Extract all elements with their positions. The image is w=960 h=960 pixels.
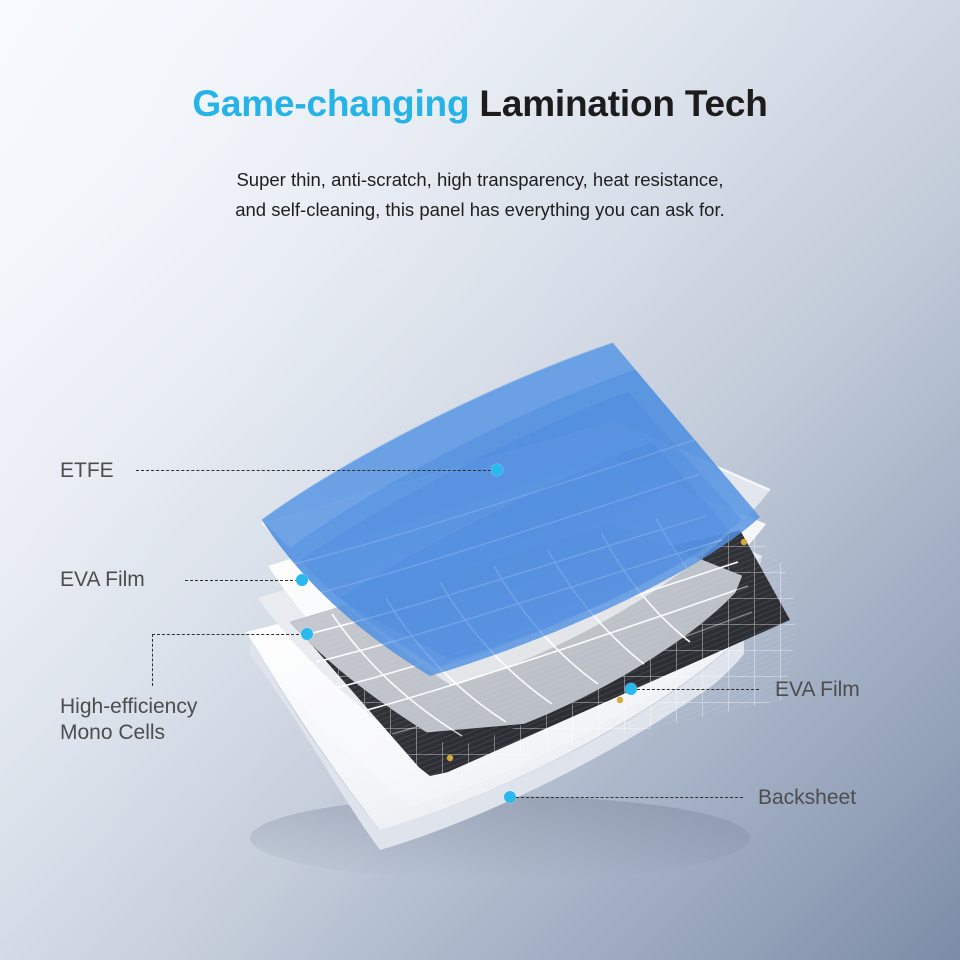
callout-label-mono-cells-line2: Mono Cells	[60, 721, 165, 744]
subtitle-line-2: and self-cleaning, this panel has everyt…	[235, 199, 725, 220]
callout-dot-mono-cells[interactable]	[301, 628, 313, 640]
callout-label-backsheet: Backsheet	[758, 785, 856, 811]
callout-label-eva-bottom: EVA Film	[775, 677, 860, 703]
callout-dot-eva-top[interactable]	[296, 574, 308, 586]
title-rest-text: Lamination Tech	[469, 83, 767, 124]
header: Game-changing Lamination Tech Super thin…	[0, 0, 960, 225]
page-title: Game-changing Lamination Tech	[0, 0, 960, 125]
callout-leader-mono-cells-vertical	[152, 634, 153, 686]
subtitle-line-1: Super thin, anti-scratch, high transpare…	[236, 169, 723, 190]
callout-leader-etfe	[136, 470, 491, 471]
grommet-icon	[447, 755, 453, 761]
page-subtitle: Super thin, anti-scratch, high transpare…	[0, 125, 960, 225]
callout-dot-eva-bottom[interactable]	[625, 683, 637, 695]
callout-label-mono-cells-line1: High-efficiency	[60, 695, 197, 718]
callout-leader-eva-top	[185, 580, 298, 581]
callout-dot-etfe[interactable]	[491, 464, 503, 476]
callout-label-eva-top: EVA Film	[60, 567, 145, 593]
grommet-icon	[741, 539, 747, 545]
grommet-icon	[617, 697, 623, 703]
title-accent-text: Game-changing	[192, 83, 469, 124]
callout-leader-mono-cells-horizontal	[152, 634, 304, 635]
callout-label-etfe: ETFE	[60, 458, 114, 484]
callout-dot-backsheet[interactable]	[504, 791, 516, 803]
callout-label-mono-cells: High-efficiency Mono Cells	[60, 694, 197, 745]
callout-leader-backsheet	[516, 797, 743, 798]
callout-leader-eva-bottom	[637, 689, 759, 690]
illustration-canvas: Game-changing Lamination Tech Super thin…	[0, 0, 960, 960]
